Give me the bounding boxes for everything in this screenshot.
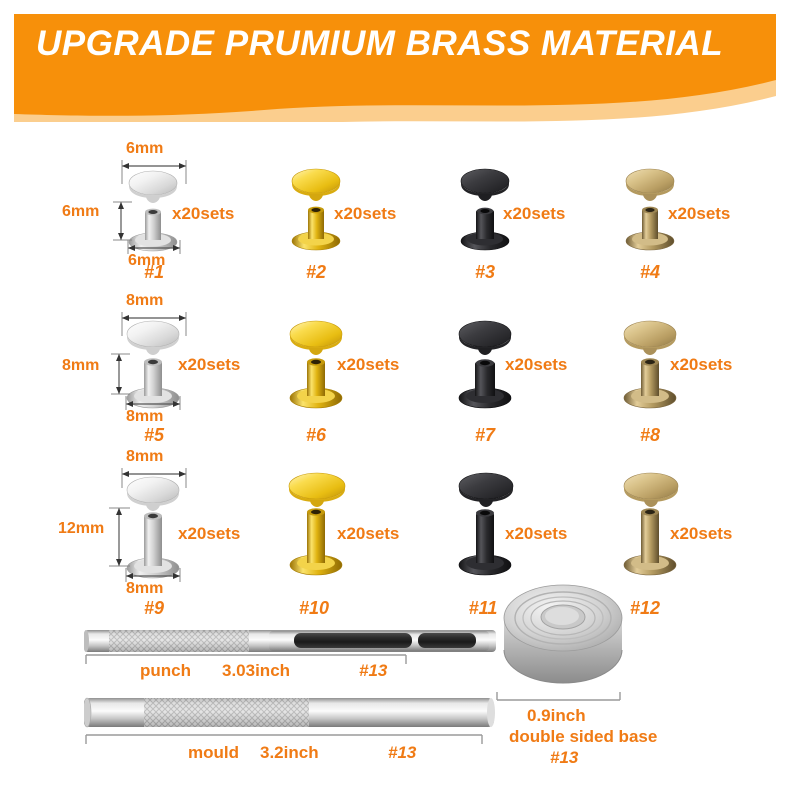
qty-label-10: x20sets (337, 524, 399, 544)
qty-label-3: x20sets (503, 204, 565, 224)
base-size-label: 0.9inch (527, 706, 586, 726)
item-id-4: #4 (621, 262, 679, 283)
punch-length-label: 3.03inch (222, 661, 290, 681)
item-id-3: #3 (456, 262, 514, 283)
qty-label-11: x20sets (505, 524, 567, 544)
punch-id-label: #13 (359, 661, 387, 681)
product-infographic: UPGRADE PRUMIUM BRASS MATERIAL 6mm (0, 0, 794, 794)
qty-label-12: x20sets (670, 524, 732, 544)
qty-label-8: x20sets (670, 355, 732, 375)
qty-label-6: x20sets (337, 355, 399, 375)
mould-length-label: 3.2inch (260, 743, 319, 763)
item-id-10: #10 (283, 598, 345, 619)
item-id-1: #1 (124, 262, 184, 283)
header-banner: UPGRADE PRUMIUM BRASS MATERIAL (14, 14, 776, 122)
page-title: UPGRADE PRUMIUM BRASS MATERIAL (36, 24, 776, 64)
dimension-arrow-vertical (108, 198, 134, 244)
qty-label-5: x20sets (178, 355, 240, 375)
base-name-label: double sided base (509, 727, 657, 747)
qty-label-9: x20sets (178, 524, 240, 544)
qty-label-2: x20sets (334, 204, 396, 224)
double-sided-base-tool (498, 572, 628, 707)
dimension-arrow-vertical (106, 350, 132, 398)
base-id-label: #13 (550, 748, 578, 768)
item-id-2: #2 (287, 262, 345, 283)
qty-label-7: x20sets (505, 355, 567, 375)
dimension-arrow-vertical (106, 504, 132, 570)
item-id-9: #9 (124, 598, 184, 619)
qty-label-1: x20sets (172, 204, 234, 224)
item-id-5: #5 (124, 425, 184, 446)
qty-label-4: x20sets (668, 204, 730, 224)
item-id-7: #7 (456, 425, 514, 446)
mould-id-label: #13 (388, 743, 416, 763)
punch-name-label: punch (140, 661, 191, 681)
base-measure-line (494, 690, 624, 704)
item-id-6: #6 (287, 425, 345, 446)
item-id-8: #8 (621, 425, 679, 446)
mould-name-label: mould (188, 743, 239, 763)
